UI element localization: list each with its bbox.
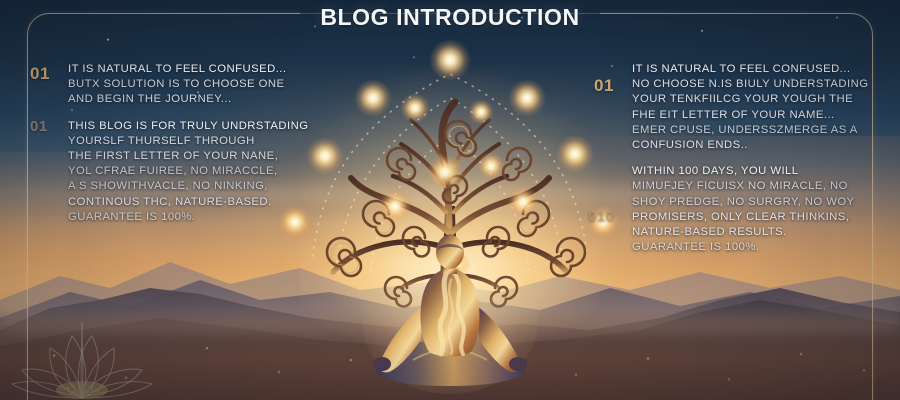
text-line: YOURSLF THURSELF THROUGH <box>68 134 308 149</box>
marker-rail-right: 01 010 <box>594 62 632 255</box>
list-marker: 01 <box>30 64 50 84</box>
text-line: YOL CFRAE FUIREE, NO MIRACCLE, <box>68 164 308 179</box>
list-marker: 01 <box>594 76 614 96</box>
text-line: A S SHOWITHVACLE, NO NINKING, <box>68 179 308 194</box>
text-line: IT IS NATURAL TO FEEL CONFUSED... <box>632 62 869 77</box>
text-line: FHE EIT LETTER OF YOUR NAME... <box>632 108 869 123</box>
text-line: EMER CPUSE, UNDERSSZMERGE AS A <box>632 123 869 138</box>
text-line: IT IS NATURAL TO FEEL CONFUSED... <box>68 62 308 77</box>
text-line: BUTX SOLUTION IS TO CHOOSE ONE <box>68 77 308 92</box>
paragraph-blocks-left: IT IS NATURAL TO FEEL CONFUSED... BUTX S… <box>68 62 308 225</box>
text-line: CONTINOUS THC, NATURE-BASED. <box>68 195 308 210</box>
text-line: AND BEGIN THE JOURNEY... <box>68 92 308 107</box>
paragraph: THIS BLOG IS FOR TRULY UNDRSTADING YOURS… <box>68 119 308 225</box>
text-column-left: 01 01 IT IS NATURAL TO FEEL CONFUSED... … <box>30 62 295 225</box>
list-marker: 010 <box>588 208 615 225</box>
text-line: GUARANTEE IS 100%. <box>68 210 308 225</box>
blog-introduction-banner: BLOG INTRODUCTION 01 01 IT IS NATURAL TO… <box>0 0 900 400</box>
paragraph: IT IS NATURAL TO FEEL CONFUSED... NO CHO… <box>632 62 869 153</box>
page-title: BLOG INTRODUCTION <box>0 4 900 31</box>
text-line: NATURE-BASED RESULTS. <box>632 225 869 240</box>
marker-rail-left: 01 01 <box>30 62 68 225</box>
paragraph-blocks-right: IT IS NATURAL TO FEEL CONFUSED... NO CHO… <box>632 62 869 255</box>
meditating-lotus-figure <box>355 236 545 396</box>
text-line: NO CHOOSE N.IS BIULY UNDERSTADING <box>632 77 869 92</box>
lotus-flower-watermark <box>2 294 162 400</box>
text-line: THIS BLOG IS FOR TRULY UNDRSTADING <box>68 119 308 134</box>
text-column-right: 01 010 IT IS NATURAL TO FEEL CONFUSED...… <box>594 62 869 255</box>
text-line: GUARANTEE IS 100%. <box>632 240 869 255</box>
text-line: SHOY PREDGE, NO SURGRY, NO WOY <box>632 195 869 210</box>
paragraph: IT IS NATURAL TO FEEL CONFUSED... BUTX S… <box>68 62 308 108</box>
list-marker: 01 <box>30 118 48 135</box>
text-line: WITHIN 100 DAYS, YOU WILL <box>632 164 869 179</box>
text-line: YOUR TENKFIILCG YOUR YOUGH THE <box>632 92 869 107</box>
paragraph: WITHIN 100 DAYS, YOU WILL MIMUFJEY FICUI… <box>632 164 869 255</box>
text-line: MIMUFJEY FICUISX NO MIRACLE, NO <box>632 179 869 194</box>
text-line: PROMISERS, ONLY CLEAR THINKINS, <box>632 210 869 225</box>
text-line: THE FIRST LETTER OF YOUR NANE, <box>68 149 308 164</box>
text-line: CONFUSION ENDS.. <box>632 138 869 153</box>
